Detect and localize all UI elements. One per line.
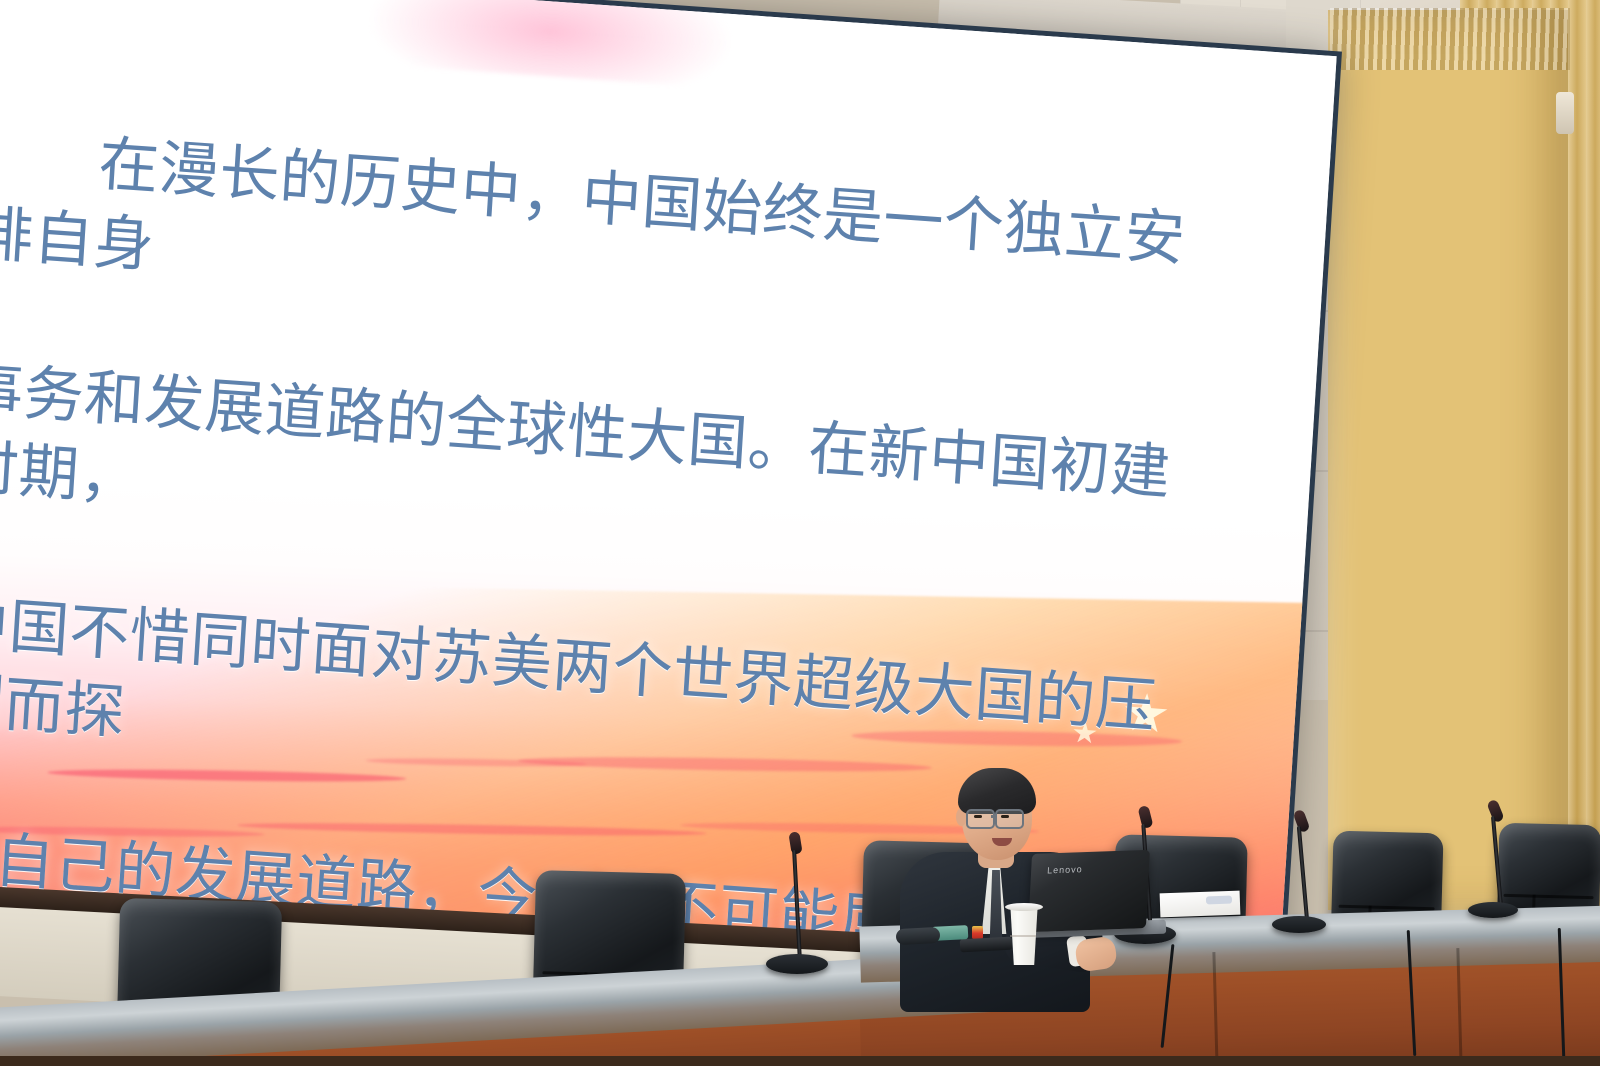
laptop[interactable]: Lenovo [1028,850,1150,932]
speaker-eye-right [1001,815,1009,818]
document-edge [1206,896,1232,905]
cup-band [1010,935,1036,937]
microphone-base [766,954,828,974]
mobile-phone[interactable] [960,937,1013,953]
cup-rim [1005,903,1043,911]
speaker-eye-left [974,815,982,818]
document-stack[interactable] [1160,891,1241,918]
speaker-lapel-pin [972,926,983,939]
microphone-base [1468,902,1518,918]
eyeglasses-left-lens-icon [966,809,995,829]
floor-shadow [0,1056,1600,1066]
laptop-brand-logo: Lenovo [1047,864,1083,875]
microphone-base-left [896,927,941,945]
eyeglasses-bridge-icon [991,815,997,818]
eyeglasses-right-lens-icon [995,809,1024,829]
slide-line-2: 事务和发展道路的全球性大国。在新中国初建时期， [0,350,1177,590]
screenshot-stage: 在漫长的历史中，中国始终是一个独立安排自身 事务和发展道路的全球性大国。在新中国… [0,0,1600,1066]
projection-screen-area: 在漫长的历史中，中国始终是一个独立安排自身 事务和发展道路的全球性大国。在新中国… [0,0,1360,950]
microphone-base [1272,916,1326,933]
window-curtain [1328,10,1568,910]
curtain-gather [1330,8,1570,70]
curtain-rod-end [1556,92,1574,134]
